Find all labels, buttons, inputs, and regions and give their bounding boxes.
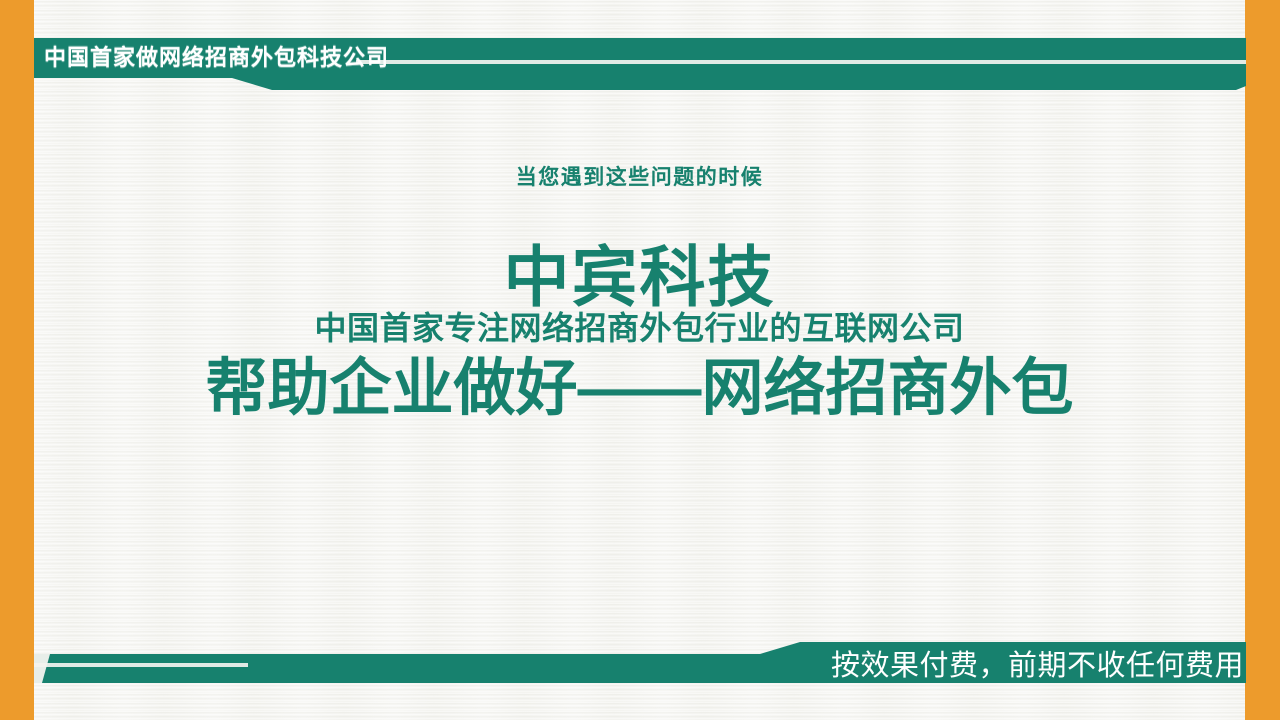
brand-title: 中宾科技 — [504, 240, 776, 314]
bottom-banner-label: 按效果付费，前期不收任何费用 — [831, 648, 1244, 684]
main-headline: 帮助企业做好——网络招商外包 — [205, 352, 1073, 426]
slide-content: 当您遇到这些问题的时候 中宾科技 中国首家专注网络招商外包行业的互联网公司 帮助… — [34, 0, 1245, 720]
kicker-text: 当您遇到这些问题的时候 — [516, 164, 764, 192]
presentation-slide: 中国首家做网络招商外包科技公司 当您遇到这些问题的时候 中宾科技 中国首家专注网… — [0, 0, 1280, 720]
brand-tagline: 中国首家专注网络招商外包行业的互联网公司 — [314, 308, 964, 348]
